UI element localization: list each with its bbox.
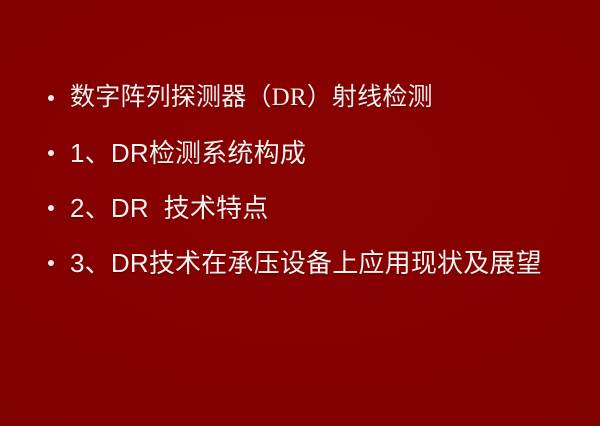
list-item[interactable]: 3、DR技术在承压设备上应用现状及展望	[0, 235, 600, 290]
bullet-item-label: 2、DR 技术特点	[70, 193, 268, 223]
bullet-item-label: 数字阵列探测器（DR）射线检测	[70, 83, 433, 113]
bullet-item-label: 3、DR技术在承压设备上应用现状及展望	[70, 248, 542, 278]
bullet-dot-icon	[48, 150, 54, 156]
bullet-list: 数字阵列探测器（DR）射线检测 1、DR检测系统构成 2、DR 技术特点 3、D…	[0, 70, 600, 290]
list-item[interactable]: 1、DR检测系统构成	[0, 125, 600, 180]
list-item[interactable]: 数字阵列探测器（DR）射线检测	[0, 70, 600, 125]
slide-canvas: 数字阵列探测器（DR）射线检测 1、DR检测系统构成 2、DR 技术特点 3、D…	[0, 0, 600, 426]
bullet-dot-icon	[48, 95, 54, 101]
bullet-dot-icon	[48, 260, 54, 266]
bullet-item-label: 1、DR检测系统构成	[70, 138, 306, 168]
bullet-dot-icon	[48, 205, 54, 211]
list-item[interactable]: 2、DR 技术特点	[0, 180, 600, 235]
